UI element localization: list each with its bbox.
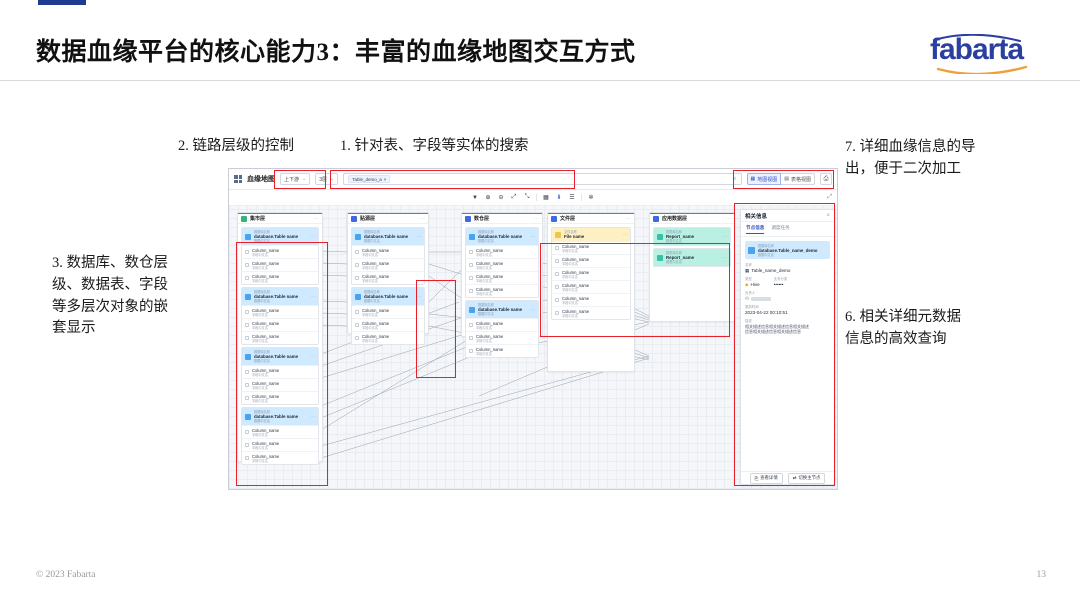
user-icon: ⚇ [745, 296, 749, 302]
lineage-table-cn: 数据中文名 [254, 299, 308, 303]
checkbox[interactable] [245, 456, 249, 460]
list-tool[interactable]: ☰ [568, 194, 576, 202]
lineage-field-cn: 字段中文名 [252, 339, 279, 343]
lineage-field-row[interactable]: Column_name字段中文名 [466, 245, 538, 258]
table-icon [748, 247, 755, 254]
lineage-column-body: 数据库名称database.Table name数据中文名⋯Column_nam… [238, 224, 322, 468]
close-icon[interactable]: × [384, 177, 387, 182]
field-type-value: ◆ Hive [745, 282, 760, 288]
checkbox[interactable] [245, 250, 249, 254]
lineage-table-cn: 报表中文名 [666, 260, 720, 264]
lineage-field-texts: Column_name字段中文名 [476, 334, 503, 343]
fit-screen-tool[interactable]: ⤢ [510, 194, 518, 202]
field-type: 类型 ◆ Hive [745, 277, 760, 288]
lineage-table-texts: 数据库名称database.Table name数据中文名 [364, 290, 414, 303]
checkbox[interactable] [245, 263, 249, 267]
checkbox[interactable] [245, 370, 249, 374]
view-detail-button[interactable]: ⎘ 查看详情 [750, 473, 783, 484]
lineage-field-cn: 字段中文名 [476, 352, 503, 356]
lineage-table-header[interactable]: 数据库名称database.Table name数据中文名⋯ [242, 288, 318, 305]
lineage-column-body: 报表库名称Report_name报表中文名⋯报表库名称Report_name报表… [650, 224, 734, 270]
filter-tool[interactable]: ▼ [471, 194, 479, 202]
lineage-column-header: 贴源层⋯ [348, 213, 428, 224]
lineage-field-name: Column_name [476, 287, 503, 292]
lineage-table-header[interactable]: 数据库名称database.Table name数据中文名⋯ [352, 228, 424, 245]
lineage-table-cn: 数据中文名 [254, 239, 308, 243]
lineage-table-node[interactable]: 文件名称File name⋯Column_name字段中文名Column_nam… [551, 227, 631, 320]
more-icon[interactable]: ⋯ [623, 232, 627, 237]
checkbox[interactable] [555, 298, 559, 302]
lineage-table-texts: 数据库名称database.Table name数据中文名 [478, 230, 528, 243]
lineage-field-name: Column_name [476, 274, 503, 279]
lineage-field-row[interactable]: Column_name字段中文名 [466, 258, 538, 271]
info-panel: 相关信息 × 节点信息 调度任务 数据库名称 database.Table_na… [740, 209, 835, 485]
lineage-field-row[interactable]: Column_name字段中文名 [242, 438, 318, 451]
annotation-6: 6. 相关详细元数据 信息的高效查询 [845, 307, 961, 351]
lineage-field-texts: Column_name字段中文名 [562, 257, 589, 266]
more-icon[interactable]: ⋯ [314, 216, 319, 222]
lineage-field-cn: 字段中文名 [562, 262, 589, 266]
field-type-row: 类型 ◆ Hive 业务分类 •••••• [745, 277, 830, 291]
lineage-table-node[interactable]: 数据库名称database.Table name数据中文名⋯Column_nam… [465, 300, 539, 358]
app-topbar: 血缘地图 上下游 ⌄ 3层 ⌄ Table_demo_a × ⊗ ▦ 地图视图 [229, 169, 837, 190]
tab-table-view[interactable]: ▤ 表格视图 [781, 173, 815, 185]
lineage-field-cn: 字段中文名 [562, 275, 589, 279]
expand-canvas-button[interactable]: ⤢ [827, 194, 832, 201]
tab-node-info[interactable]: 节点信息 [746, 225, 764, 234]
checkbox[interactable] [245, 430, 249, 434]
lineage-field-cn: 字段中文名 [562, 301, 589, 305]
chevron-down-icon: ⌄ [302, 176, 306, 182]
more-icon[interactable]: ⋯ [531, 234, 535, 239]
lineage-field-texts: Column_name字段中文名 [252, 248, 279, 257]
lineage-field-cn: 字段中文名 [362, 266, 389, 270]
tab-schedule-task[interactable]: 调度任务 [771, 225, 789, 234]
checkbox[interactable] [355, 323, 359, 327]
view-toggle: ▦ 地图视图 ▤ 表格视图 [747, 173, 816, 185]
lineage-field-texts: Column_name字段中文名 [362, 261, 389, 270]
lineage-field-row[interactable]: Column_name字段中文名 [352, 318, 424, 331]
lineage-table-header[interactable]: 数据库名称database.Table name数据中文名⋯ [466, 301, 538, 318]
lineage-field-name: Column_name [362, 308, 389, 313]
annotation-1: 1. 针对表、字段等实体的搜索 [340, 136, 529, 158]
checkbox[interactable] [245, 383, 249, 387]
lineage-field-texts: Column_name字段中文名 [362, 274, 389, 283]
lineage-field-texts: Column_name字段中文名 [476, 261, 503, 270]
lineage-field-name: Column_name [476, 248, 503, 253]
lineage-field-row[interactable]: Column_name字段中文名 [242, 245, 318, 258]
lineage-table-texts: 数据库名称database.Table name数据中文名 [254, 230, 308, 243]
lineage-field-row[interactable]: Column_name字段中文名 [466, 284, 538, 297]
checkbox[interactable] [469, 289, 473, 293]
checkbox[interactable] [245, 396, 249, 400]
page-title: 数据血缘平台的核心能力3：丰富的血缘地图交互方式 [36, 32, 636, 68]
locate-tool[interactable]: ⬇ [555, 194, 563, 202]
checkbox[interactable] [245, 443, 249, 447]
lineage-table-node[interactable]: 数据库名称database.Table name数据中文名⋯Column_nam… [351, 287, 425, 345]
page-number: 13 [1037, 570, 1047, 580]
layer-icon [551, 216, 557, 222]
lineage-field-cn: 字段中文名 [476, 326, 503, 330]
lineage-field-name: Column_name [252, 248, 279, 253]
hive-icon: ◆ [745, 282, 749, 288]
lineage-field-texts: Column_name字段中文名 [476, 347, 503, 356]
lineage-field-cn: 字段中文名 [362, 339, 389, 343]
lineage-field-name: Column_name [362, 248, 389, 253]
lineage-field-cn: 字段中文名 [476, 292, 503, 296]
lineage-field-name: Column_name [252, 441, 279, 446]
lineage-table-node[interactable]: 数据库名称database.Table name数据中文名⋯Column_nam… [241, 347, 319, 405]
lineage-column-header: 集市层⋯ [238, 213, 322, 224]
lineage-field-texts: Column_name字段中文名 [252, 308, 279, 317]
info-panel-header: 相关信息 × [741, 210, 834, 222]
field-category-value: •••••• [774, 282, 788, 288]
lineage-table-header[interactable]: 数据库名称database.Table name数据中文名⋯ [466, 228, 538, 245]
checkbox[interactable] [555, 259, 559, 263]
lineage-field-name: Column_name [562, 257, 589, 262]
lineage-field-cn: 字段中文名 [362, 279, 389, 283]
lineage-field-texts: Column_name字段中文名 [362, 334, 389, 343]
layer-icon [653, 216, 659, 222]
lineage-field-name: Column_name [476, 347, 503, 352]
lineage-table-node[interactable]: 报表库名称Report_name报表中文名⋯ [653, 248, 731, 267]
lineage-table-node[interactable]: 数据库名称database.Table name数据中文名⋯Column_nam… [241, 407, 319, 465]
lineage-column-title: 文件层 [560, 215, 575, 222]
lineage-column-header: 文件层⋯ [548, 213, 634, 224]
field-owner: 负责人 ⚇ [745, 291, 830, 302]
lineage-field-cn: 字段中文名 [252, 253, 279, 257]
lineage-field-name: Column_name [252, 308, 279, 313]
lineage-field-name: Column_name [252, 368, 279, 373]
lineage-field-name: Column_name [252, 381, 279, 386]
lineage-field-row[interactable]: Column_name字段中文名 [352, 331, 424, 344]
checkbox[interactable] [469, 276, 473, 280]
lineage-table-texts: 报表库名称Report_name报表中文名 [666, 251, 720, 264]
logo-swoosh-icon [930, 34, 1050, 74]
lineage-table-header[interactable]: 数据库名称database.Table name数据中文名⋯ [352, 288, 424, 305]
lineage-field-name: Column_name [362, 274, 389, 279]
checkbox[interactable] [245, 336, 249, 340]
lineage-table-name: File name [564, 234, 620, 239]
field-category: 业务分类 •••••• [774, 277, 788, 288]
lineage-field-texts: Column_name字段中文名 [476, 287, 503, 296]
direction-select[interactable]: 上下游 ⌄ [280, 173, 310, 185]
more-icon[interactable]: ⋯ [417, 234, 421, 239]
lineage-field-row[interactable]: Column_name字段中文名 [242, 318, 318, 331]
lineage-field-texts: Column_name字段中文名 [252, 454, 279, 463]
checkbox[interactable] [355, 250, 359, 254]
lineage-field-name: Column_name [252, 261, 279, 266]
more-icon[interactable]: ⋯ [311, 354, 315, 359]
field-updated: 更新时间 2023-04-22 00:10:51 [745, 305, 830, 316]
lineage-table-header[interactable]: 数据库名称database.Table name数据中文名⋯ [242, 408, 318, 425]
lineage-field-cn: 字段中文名 [362, 253, 389, 257]
lineage-field-name: Column_name [562, 283, 589, 288]
lineage-field-row[interactable]: Column_name字段中文名 [552, 254, 630, 267]
lineage-field-cn: 字段中文名 [476, 279, 503, 283]
lineage-column-title: 贴源层 [360, 215, 375, 222]
owner-mask [751, 297, 771, 301]
checkbox[interactable] [469, 263, 473, 267]
lineage-table-node[interactable]: 数据库名称database.Table name数据中文名⋯Column_nam… [351, 227, 425, 285]
lineage-field-texts: Column_name字段中文名 [252, 321, 279, 330]
lineage-field-row[interactable]: Column_name字段中文名 [242, 271, 318, 284]
lineage-field-name: Column_name [362, 334, 389, 339]
lineage-field-texts: Column_name字段中文名 [252, 428, 279, 437]
lineage-field-cn: 字段中文名 [252, 433, 279, 437]
lineage-table-node[interactable]: 数据库名称database.Table name数据中文名⋯Column_nam… [241, 287, 319, 345]
table-view-icon: ▤ [784, 176, 789, 182]
lineage-field-name: Column_name [362, 321, 389, 326]
lineage-field-cn: 字段中文名 [252, 373, 279, 377]
collapse-tool[interactable]: ⤡ [523, 194, 531, 202]
annotation-2: 2. 链路层级的控制 [178, 136, 294, 158]
lineage-field-cn: 字段中文名 [252, 326, 279, 330]
lineage-field-texts: Column_name字段中文名 [562, 244, 589, 253]
lineage-field-row[interactable]: Column_name字段中文名 [352, 245, 424, 258]
lineage-field-name: Column_name [476, 334, 503, 339]
clear-icon[interactable]: ⊗ [732, 176, 736, 182]
checkbox[interactable] [555, 272, 559, 276]
export-button[interactable]: ⎙ [820, 173, 832, 185]
selected-node-cn: 数据中文名 [758, 253, 817, 257]
more-icon[interactable]: ⋯ [420, 216, 425, 222]
settings-tool[interactable]: ✲ [587, 194, 595, 202]
checkbox[interactable] [355, 336, 359, 340]
table-icon [245, 414, 251, 420]
table-icon: ▦ [745, 268, 749, 274]
checkbox[interactable] [245, 310, 249, 314]
field-name-text: Table_name_demo [751, 268, 790, 274]
layer-icon [241, 216, 247, 222]
field-type-text: Hive [751, 282, 760, 288]
table-icon [245, 354, 251, 360]
lineage-table-node[interactable]: 报表库名称Report_name报表中文名⋯ [653, 227, 731, 246]
lineage-field-row[interactable]: Column_name字段中文名 [242, 451, 318, 464]
lineage-column-title: 应用数据层 [662, 215, 687, 222]
checkbox[interactable] [469, 323, 473, 327]
lineage-column: 集市层⋯数据库名称database.Table name数据中文名⋯Column… [237, 212, 323, 462]
lineage-field-row[interactable]: Column_name字段中文名 [352, 258, 424, 271]
checkbox[interactable] [555, 311, 559, 315]
lineage-field-cn: 字段中文名 [362, 326, 389, 330]
lineage-field-texts: Column_name字段中文名 [252, 381, 279, 390]
lineage-field-texts: Column_name字段中文名 [476, 321, 503, 330]
lineage-field-texts: Column_name字段中文名 [362, 308, 389, 317]
lineage-field-name: Column_name [476, 321, 503, 326]
checkbox[interactable] [355, 310, 359, 314]
lineage-field-row[interactable]: Column_name字段中文名 [242, 425, 318, 438]
checkbox[interactable] [469, 336, 473, 340]
lineage-field-cn: 字段中文名 [562, 288, 589, 292]
field-name: 名称 ▦ Table_name_demo [745, 263, 830, 274]
lineage-table-texts: 数据库名称database.Table name数据中文名 [478, 303, 528, 316]
lineage-field-name: Column_name [252, 394, 279, 399]
lineage-field-row[interactable]: Column_name字段中文名 [552, 241, 630, 254]
map-view-icon: ▦ [751, 176, 756, 182]
search-chip[interactable]: Table_demo_a × [348, 175, 390, 183]
table-icon [355, 294, 361, 300]
checkbox[interactable] [469, 349, 473, 353]
more-icon[interactable]: ⋯ [723, 255, 727, 260]
depth-select-value: 3层 [319, 176, 327, 183]
toolbar-divider [581, 194, 582, 201]
lineage-field-row[interactable]: Column_name字段中文名 [242, 391, 318, 404]
annotation-3: 3. 数据库、数仓层 级、数据表、字段 等多层次对象的嵌 套显示 [52, 253, 168, 340]
checkbox[interactable] [355, 276, 359, 280]
selected-node-card[interactable]: 数据库名称 database.Table_name_demo 数据中文名 [745, 241, 830, 259]
lineage-field-cn: 字段中文名 [476, 253, 503, 257]
info-panel-body: 数据库名称 database.Table_name_demo 数据中文名 名称 … [741, 237, 834, 471]
lineage-field-row[interactable]: Column_name字段中文名 [242, 331, 318, 344]
lineage-field-texts: Column_name字段中文名 [362, 321, 389, 330]
lineage-table-cn: 数据中文名 [254, 359, 308, 363]
lineage-field-texts: Column_name字段中文名 [562, 309, 589, 318]
lineage-field-row[interactable]: Column_name字段中文名 [552, 267, 630, 280]
lineage-column-header: 数仓层⋯ [462, 213, 542, 224]
lineage-column: 数仓层⋯数据库名称database.Table name数据中文名⋯Column… [461, 212, 543, 337]
lineage-field-texts: Column_name字段中文名 [252, 274, 279, 283]
layer-icon [465, 216, 471, 222]
lineage-field-name: Column_name [562, 270, 589, 275]
checkbox[interactable] [355, 263, 359, 267]
lineage-field-row[interactable]: Column_name字段中文名 [552, 306, 630, 319]
more-icon[interactable]: ⋯ [311, 234, 315, 239]
info-panel-title: 相关信息 [745, 212, 767, 220]
chevron-down-icon: ⌄ [330, 176, 334, 182]
title-divider [0, 80, 1080, 81]
lineage-field-texts: Column_name字段中文名 [562, 296, 589, 305]
lineage-field-cn: 字段中文名 [476, 266, 503, 270]
table-icon [245, 294, 251, 300]
lineage-field-row[interactable]: Column_name字段中文名 [552, 293, 630, 306]
lineage-table-cn: 报表中文名 [666, 239, 720, 243]
lineage-field-cn: 字段中文名 [252, 399, 279, 403]
zoom-in-tool[interactable]: ⊕ [484, 194, 492, 202]
annotation-7: 7. 详细血缘信息的导 出，便于二次加工 [845, 137, 976, 181]
tab-map-view[interactable]: ▦ 地图视图 [747, 173, 782, 185]
checkbox[interactable] [469, 250, 473, 254]
checkbox[interactable] [245, 276, 249, 280]
lineage-table-cn: 数据中文名 [478, 312, 528, 316]
lineage-field-row[interactable]: Column_name字段中文名 [552, 280, 630, 293]
lineage-table-cn: 数据中文名 [364, 239, 414, 243]
lineage-table-node[interactable]: 数据库名称database.Table name数据中文名⋯Column_nam… [241, 227, 319, 285]
canvas-toolbar: ▼⊕⊖⤢⤡▦⬇☰✲ ⤢ [229, 190, 837, 206]
layout-tool[interactable]: ▦ [542, 194, 550, 202]
lineage-field-row[interactable]: Column_name字段中文名 [466, 344, 538, 357]
selected-node-name: database.Table_name_demo [758, 248, 817, 253]
lineage-table-header[interactable]: 文件名称File name⋯ [552, 228, 630, 241]
lineage-field-cn: 字段中文名 [562, 249, 589, 253]
table-icon [245, 234, 251, 240]
more-icon[interactable]: ⋯ [626, 216, 631, 222]
field-description: 描述 相关描述信息相关描述信息相关描述 信息相关描述信息相关描述信息 [745, 319, 830, 335]
lineage-table-texts: 数据库名称database.Table name数据中文名 [254, 350, 308, 363]
lineage-field-row[interactable]: Column_name字段中文名 [466, 331, 538, 344]
lineage-table-cn: 数据中文名 [364, 299, 414, 303]
lineage-field-row[interactable]: Column_name字段中文名 [352, 271, 424, 284]
lineage-field-row[interactable]: Column_name字段中文名 [242, 305, 318, 318]
checkbox[interactable] [555, 285, 559, 289]
checkbox[interactable] [555, 246, 559, 250]
more-icon[interactable]: ⋯ [531, 307, 535, 312]
zoom-out-tool[interactable]: ⊖ [497, 194, 505, 202]
lineage-field-texts: Column_name字段中文名 [562, 283, 589, 292]
layer-icon [351, 216, 357, 222]
info-panel-tabs: 节点信息 调度任务 [741, 222, 834, 237]
lineage-table-header[interactable]: 报表库名称Report_name报表中文名⋯ [654, 249, 730, 266]
lineage-field-texts: Column_name字段中文名 [562, 270, 589, 279]
lineage-field-texts: Column_name字段中文名 [252, 441, 279, 450]
lineage-field-row[interactable]: Column_name字段中文名 [242, 365, 318, 378]
lineage-column-body: 文件名称File name⋯Column_name字段中文名Column_nam… [548, 224, 634, 323]
table-icon [657, 234, 663, 240]
menu-grid-icon[interactable] [234, 175, 242, 183]
lineage-field-row[interactable]: Column_name字段中文名 [242, 258, 318, 271]
lineage-field-cn: 字段中文名 [476, 339, 503, 343]
lineage-table-node[interactable]: 数据库名称database.Table name数据中文名⋯Column_nam… [465, 227, 539, 298]
close-icon[interactable]: × [826, 213, 830, 219]
lineage-field-texts: Column_name字段中文名 [252, 368, 279, 377]
lineage-field-name: Column_name [562, 244, 589, 249]
lineage-field-row[interactable]: Column_name字段中文名 [242, 378, 318, 391]
app-title: 血缘地图 [247, 174, 275, 184]
lineage-table-header[interactable]: 报表库名称Report_name报表中文名⋯ [654, 228, 730, 245]
table-icon [355, 234, 361, 240]
lineage-field-name: Column_name [252, 321, 279, 326]
lineage-column: 应用数据层⋯报表库名称Report_name报表中文名⋯报表库名称Report_… [649, 212, 735, 322]
lineage-field-name: Column_name [476, 261, 503, 266]
lineage-field-cn: 字段中文名 [252, 266, 279, 270]
depth-select[interactable]: 3层 ⌄ [315, 173, 338, 185]
table-icon [555, 232, 561, 238]
app-screenshot: 血缘地图 上下游 ⌄ 3层 ⌄ Table_demo_a × ⊗ ▦ 地图视图 [228, 168, 838, 490]
lineage-field-name: Column_name [252, 454, 279, 459]
lineage-table-header[interactable]: 数据库名称database.Table name数据中文名⋯ [242, 228, 318, 245]
lineage-table-header[interactable]: 数据库名称database.Table name数据中文名⋯ [242, 348, 318, 365]
lineage-field-row[interactable]: Column_name字段中文名 [352, 305, 424, 318]
table-icon [469, 234, 475, 240]
lineage-field-row[interactable]: Column_name字段中文名 [466, 318, 538, 331]
lineage-field-row[interactable]: Column_name字段中文名 [466, 271, 538, 284]
lineage-column-body: 数据库名称database.Table name数据中文名⋯Column_nam… [462, 224, 542, 361]
table-icon [469, 307, 475, 313]
accent-bar [38, 0, 86, 5]
field-updated-value: 2023-04-22 00:10:51 [745, 310, 830, 316]
lineage-field-name: Column_name [252, 274, 279, 279]
switch-main-node-button[interactable]: ⇄ 切换主节点 [788, 473, 826, 484]
lineage-field-texts: Column_name字段中文名 [476, 248, 503, 257]
more-icon[interactable]: ⋯ [723, 234, 727, 239]
more-icon[interactable]: ⋯ [726, 216, 731, 222]
lineage-column-header: 应用数据层⋯ [650, 213, 734, 224]
lineage-column: 贴源层⋯数据库名称database.Table name数据中文名⋯Column… [347, 212, 429, 334]
more-icon[interactable]: ⋯ [417, 294, 421, 299]
detail-icon: ⎘ [755, 476, 759, 481]
search-input[interactable]: Table_demo_a × ⊗ [343, 173, 741, 185]
search-chip-label: Table_demo_a [352, 177, 382, 182]
lineage-table-texts: 数据库名称database.Table name数据中文名 [254, 290, 308, 303]
lineage-field-cn: 字段中文名 [562, 314, 589, 318]
checkbox[interactable] [245, 323, 249, 327]
lineage-canvas[interactable]: 集市层⋯数据库名称database.Table name数据中文名⋯Column… [229, 206, 838, 489]
more-icon[interactable]: ⋯ [311, 294, 315, 299]
fabarta-logo: fabarta [930, 34, 1050, 74]
more-icon[interactable]: ⋯ [534, 216, 539, 222]
lineage-column-body: 数据库名称database.Table name数据中文名⋯Column_nam… [348, 224, 428, 348]
more-icon[interactable]: ⋯ [311, 414, 315, 419]
